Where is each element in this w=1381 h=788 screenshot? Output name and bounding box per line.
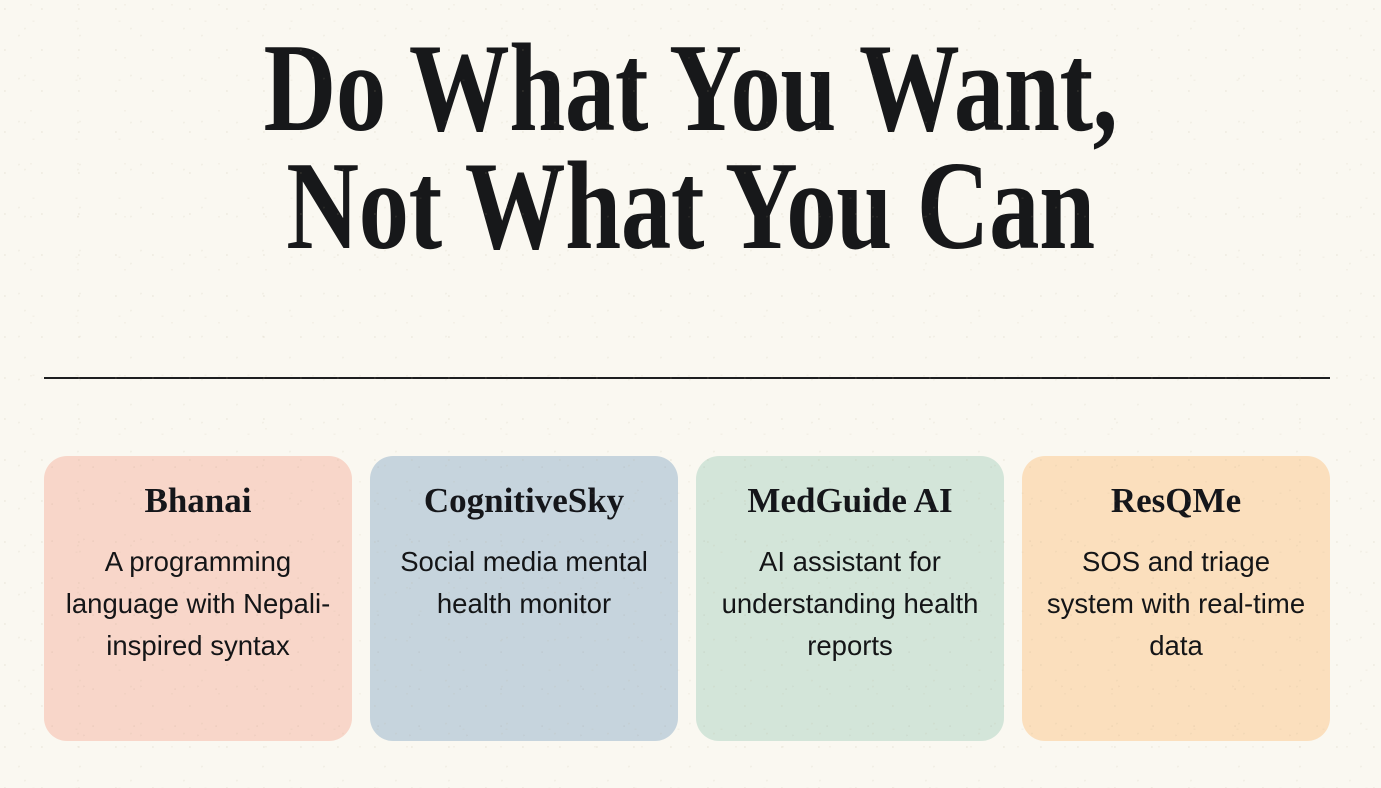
project-card-medguide-ai[interactable]: MedGuide AI AI assistant for understandi…	[696, 456, 1004, 741]
project-card-title: Bhanai	[58, 482, 338, 520]
project-card-title: CognitiveSky	[384, 482, 664, 520]
project-card-title: MedGuide AI	[710, 482, 990, 520]
project-card-bhanai[interactable]: Bhanai A programming language with Nepal…	[44, 456, 352, 741]
project-card-description: SOS and triage system with real-time dat…	[1036, 541, 1316, 667]
page-title-line-1: Do What You Want,	[138, 30, 1243, 148]
page-title-line-2: Not What You Can	[138, 148, 1243, 266]
project-card-description: AI assistant for understanding health re…	[710, 541, 990, 667]
slide-canvas: Do What You Want, Not What You Can Bhana…	[0, 0, 1381, 788]
project-card-list: Bhanai A programming language with Nepal…	[44, 456, 1330, 741]
project-card-description: Social media mental health monitor	[384, 541, 664, 625]
project-card-description: A programming language with Nepali-inspi…	[58, 541, 338, 667]
project-card-resqme[interactable]: ResQMe SOS and triage system with real-t…	[1022, 456, 1330, 741]
horizontal-divider	[44, 377, 1330, 379]
project-card-cognitivesky[interactable]: CognitiveSky Social media mental health …	[370, 456, 678, 741]
project-card-title: ResQMe	[1036, 482, 1316, 520]
page-title: Do What You Want, Not What You Can	[0, 30, 1381, 266]
